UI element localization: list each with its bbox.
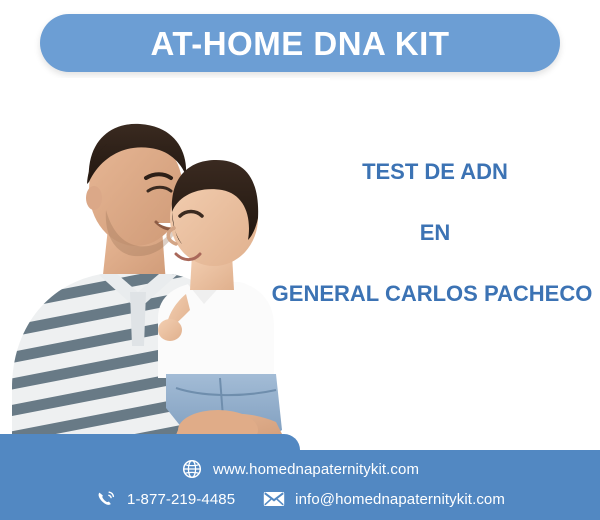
header-banner-title: AT-HOME DNA KIT bbox=[151, 27, 450, 60]
headline-line-1: TEST DE ADN bbox=[270, 160, 600, 183]
footer-contact-rows: www.homednapaternitykit.com 1-877-219-44… bbox=[0, 434, 600, 520]
header-banner-pill: AT-HOME DNA KIT bbox=[40, 14, 560, 72]
headline-line-3: GENERAL CARLOS PACHECO bbox=[264, 282, 600, 305]
footer-website-text: www.homednapaternitykit.com bbox=[213, 461, 419, 478]
poster-canvas: AT-HOME DNA KIT bbox=[0, 0, 600, 520]
footer-email-item[interactable]: info@homednapaternitykit.com bbox=[263, 488, 505, 510]
headline-line-2: EN bbox=[270, 221, 600, 244]
phone-icon bbox=[95, 488, 117, 510]
globe-icon bbox=[181, 458, 203, 480]
footer-phone-text: 1-877-219-4485 bbox=[127, 491, 235, 508]
footer-row-contact: 1-877-219-4485 info@homednapaternitykit.… bbox=[0, 488, 600, 510]
footer-row-website: www.homednapaternitykit.com bbox=[0, 458, 600, 480]
headline-block: TEST DE ADN EN GENERAL CARLOS PACHECO bbox=[270, 160, 600, 305]
contact-footer: www.homednapaternitykit.com 1-877-219-44… bbox=[0, 434, 600, 520]
footer-phone-item[interactable]: 1-877-219-4485 bbox=[95, 488, 235, 510]
footer-website-item[interactable]: www.homednapaternitykit.com bbox=[181, 458, 419, 480]
footer-email-text: info@homednapaternitykit.com bbox=[295, 491, 505, 508]
mail-icon bbox=[263, 488, 285, 510]
